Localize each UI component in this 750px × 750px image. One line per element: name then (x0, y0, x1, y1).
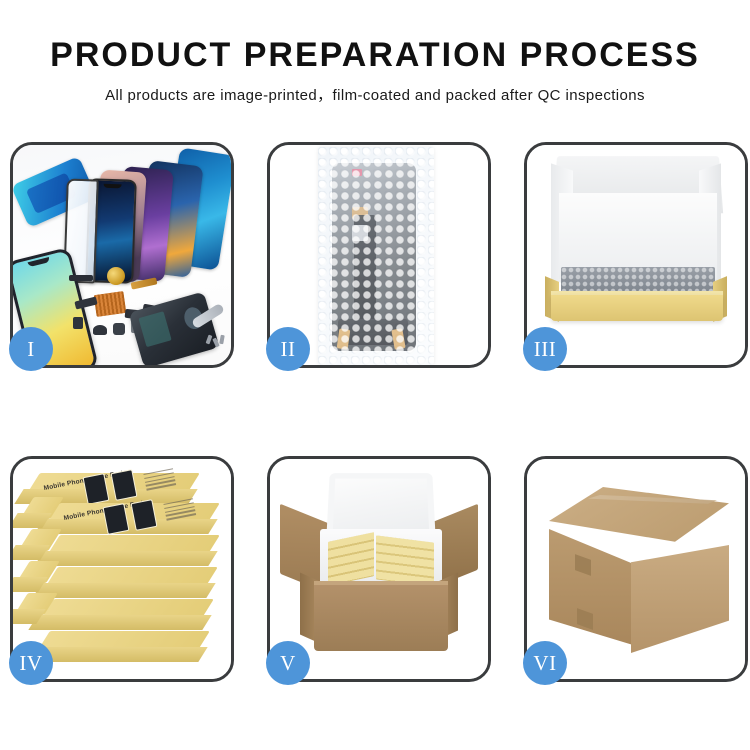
step-badge-5: V (266, 641, 310, 685)
step-badge-6: VI (523, 641, 567, 685)
part-connector-2 (73, 317, 83, 329)
page-title: PRODUCT PREPARATION PROCESS (0, 36, 750, 75)
stacked-box-rear-4 (13, 593, 47, 619)
stacked-box-3 (39, 535, 215, 561)
part-coil (107, 267, 125, 285)
page-header: PRODUCT PREPARATION PROCESS All products… (0, 0, 750, 105)
stacked-box-rear-3 (13, 561, 49, 587)
step-badge-1: I (9, 327, 53, 371)
part-bar (69, 275, 93, 281)
part-connector-3 (93, 325, 107, 335)
stacked-box-2: Mobile Phone Spare Parts (39, 503, 215, 529)
stacked-box-1: Mobile Phone Spare Parts (19, 473, 195, 499)
stacked-box-4 (37, 567, 213, 593)
bubble-wrap-bag (318, 147, 434, 365)
process-step-panel-6: VI (524, 456, 748, 682)
stacked-box-5 (33, 599, 209, 625)
lcd-connector (352, 225, 368, 241)
process-step-panel-5: V (267, 456, 491, 682)
process-step-panel-4: Mobile Phone Spare Parts Mobile Phone Sp… (10, 456, 234, 682)
lcd-label-sticker (352, 169, 362, 176)
product-preparation-process-page: PRODUCT PREPARATION PROCESS All products… (0, 0, 750, 750)
part-screws (207, 335, 225, 349)
sealed-carton-right-face (631, 545, 729, 653)
lcd-assembly (332, 163, 416, 351)
stacked-box-6 (29, 631, 205, 657)
step-badge-2: II (266, 327, 310, 371)
step-badge-3: III (523, 327, 567, 371)
part-connector-4 (113, 323, 125, 335)
phone-chassis (129, 291, 220, 365)
step-badge-4: IV (9, 641, 53, 685)
yellow-boxes-group-right (376, 535, 434, 586)
process-step-panel-2: II (267, 142, 491, 368)
part-copper-grid (94, 291, 127, 317)
carton-front-panel (314, 585, 448, 651)
page-subtitle: All products are image-printed，film-coat… (0, 84, 750, 105)
process-step-panel-1: I (10, 142, 234, 368)
lcd-gold-contact-left (337, 328, 351, 349)
box-stack: Mobile Phone Spare Parts Mobile Phone Sp… (19, 473, 229, 669)
process-step-panel-3: III (524, 142, 748, 368)
box-front-panel (551, 295, 723, 321)
stacked-box-rear-1 (13, 497, 53, 523)
stacked-box-rear-2 (13, 529, 51, 555)
process-step-grid: I II (10, 142, 748, 682)
